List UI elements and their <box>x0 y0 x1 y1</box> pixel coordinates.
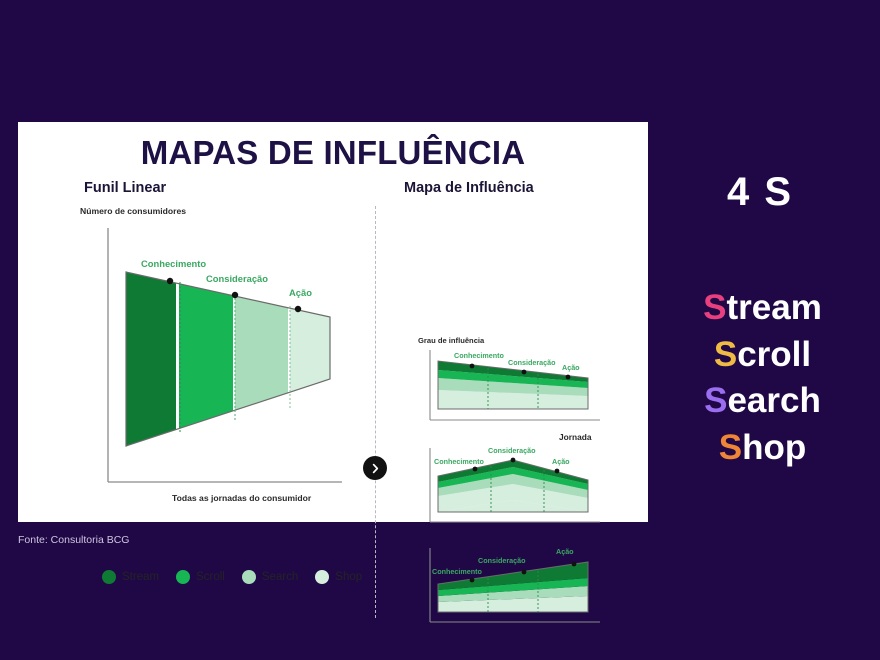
funnel-band-search <box>235 259 288 459</box>
funnel-y-axis-caption: Número de consumidores <box>80 206 186 216</box>
sidebar-rest-search: earch <box>727 381 820 420</box>
mini1-label-conhecimento: Conhecimento <box>454 351 505 360</box>
column-divider <box>375 206 376 618</box>
sidebar-rest-scroll: croll <box>737 335 811 374</box>
influence-map-rising: Conhecimento Consideração Ação <box>416 540 606 636</box>
section-heading-mapa: Mapa de Influência <box>404 180 534 196</box>
legend-label-scroll: Scroll <box>196 571 225 583</box>
mini2-label-conhecimento: Conhecimento <box>434 457 485 466</box>
influence-map-declining: Grau de influência Conhecimento Consider… <box>416 334 606 434</box>
sidebar-title: 4 S <box>660 170 860 215</box>
sidebar-item-scroll: Scroll <box>660 332 865 379</box>
sidebar-initial-stream: S <box>703 288 726 327</box>
sidebar-item-stream: Stream <box>660 285 865 332</box>
legend-label-shop: Shop <box>335 571 362 583</box>
mini3-label-consideracao: Consideração <box>478 556 526 565</box>
sidebar-rest-stream: tream <box>727 288 822 327</box>
legend-item-stream[interactable]: Stream <box>102 570 159 584</box>
mini3-label-conhecimento: Conhecimento <box>432 567 483 576</box>
slide-card: MAPAS DE INFLUÊNCIA Funil Linear Mapa de… <box>18 122 648 522</box>
funnel-marker-consideracao <box>232 292 238 298</box>
next-arrow-button[interactable] <box>363 456 387 480</box>
mini2-marker-consideracao <box>511 458 516 463</box>
funnel-marker-conhecimento <box>167 278 173 284</box>
legend-item-scroll[interactable]: Scroll <box>176 570 225 584</box>
mini3-marker-consideracao <box>522 570 527 575</box>
chevron-right-icon <box>370 463 381 474</box>
funnel-marker-acao <box>295 306 301 312</box>
influence-y-axis-caption: Grau de influência <box>418 336 485 345</box>
funnel-label-conhecimento: Conhecimento <box>141 258 206 269</box>
sidebar-initial-search: S <box>704 381 727 420</box>
legend-label-stream: Stream <box>122 571 159 583</box>
funnel-chart: Número de consumidores <box>80 204 360 554</box>
sidebar-item-search: Search <box>660 378 865 425</box>
mini2-stacked-areas <box>438 460 588 512</box>
legend-dot-scroll <box>176 570 190 584</box>
funnel-label-acao: Ação <box>289 287 312 298</box>
mini3-marker-conhecimento <box>470 578 475 583</box>
funnel-legend: Stream Scroll Search Shop <box>102 570 362 584</box>
legend-dot-search <box>242 570 256 584</box>
sidebar-rest-shop: hop <box>742 428 806 467</box>
sidebar-initial-scroll: S <box>714 335 737 374</box>
mini2-label-consideracao: Consideração <box>488 446 536 455</box>
funnel-band-scroll <box>179 259 233 459</box>
page-title: MAPAS DE INFLUÊNCIA <box>18 134 648 172</box>
sidebar-s-list: Stream Scroll Search Shop <box>660 285 865 471</box>
legend-item-shop[interactable]: Shop <box>315 570 362 584</box>
section-heading-funil: Funil Linear <box>84 180 166 196</box>
funnel-x-axis-caption: Todas as jornadas do consumidor <box>172 493 312 503</box>
legend-item-search[interactable]: Search <box>242 570 298 584</box>
mini2-label-acao: Ação <box>552 457 570 466</box>
legend-dot-shop <box>315 570 329 584</box>
slide-canvas: MAPAS DE INFLUÊNCIA Funil Linear Mapa de… <box>0 0 880 660</box>
legend-dot-stream <box>102 570 116 584</box>
mini1-label-consideracao: Consideração <box>508 358 556 367</box>
source-note: Fonte: Consultoria BCG <box>18 534 129 546</box>
mini3-marker-acao <box>572 562 577 567</box>
funnel-band-stream <box>120 259 176 459</box>
mini1-marker-conhecimento <box>470 364 475 369</box>
mini2-marker-conhecimento <box>473 467 478 472</box>
legend-label-search: Search <box>262 571 298 583</box>
influence-map-peak: Conhecimento Consideração Ação <box>416 440 606 536</box>
sidebar-initial-shop: S <box>719 428 742 467</box>
mini1-marker-acao <box>566 375 571 380</box>
mini2-marker-acao <box>555 469 560 474</box>
funnel-label-consideracao: Consideração <box>206 273 268 284</box>
mini1-marker-consideracao <box>522 370 527 375</box>
sidebar-item-shop: Shop <box>660 425 865 472</box>
mini3-label-acao: Ação <box>556 547 574 556</box>
mini1-label-acao: Ação <box>562 363 580 372</box>
